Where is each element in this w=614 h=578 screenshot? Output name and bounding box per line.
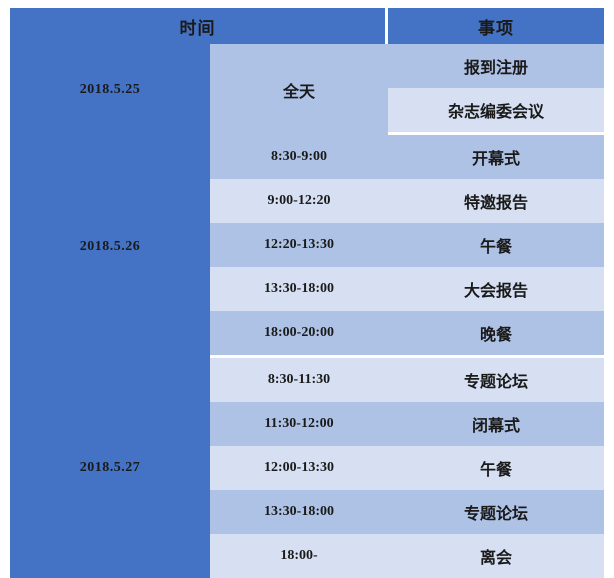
- time-cell: 全天: [210, 44, 388, 135]
- item-cell: 专题论坛: [388, 358, 604, 402]
- table-row: 2018.5.25全天报到注册: [10, 44, 604, 88]
- item-cell: 开幕式: [388, 135, 604, 179]
- date-cell: 2018.5.27: [10, 358, 210, 578]
- conference-schedule-table: 时间 事项 2018.5.25全天报到注册杂志编委会议2018.5.268:30…: [10, 8, 604, 578]
- item-cell: 杂志编委会议: [388, 88, 604, 135]
- date-cell: 2018.5.25: [10, 44, 210, 135]
- time-cell: 13:30-18:00: [210, 490, 388, 534]
- table-row: 2018.5.268:30-9:00开幕式: [10, 135, 604, 179]
- time-cell: 18:00-: [210, 534, 388, 578]
- schedule-container: 时间 事项 2018.5.25全天报到注册杂志编委会议2018.5.268:30…: [0, 0, 614, 572]
- item-cell: 闭幕式: [388, 402, 604, 446]
- item-cell: 离会: [388, 534, 604, 578]
- time-cell: 13:30-18:00: [210, 267, 388, 311]
- table-row: 2018.5.278:30-11:30专题论坛: [10, 358, 604, 402]
- column-header-time: 时间: [10, 8, 388, 44]
- item-cell: 午餐: [388, 223, 604, 267]
- time-cell: 8:30-9:00: [210, 135, 388, 179]
- time-cell: 12:00-13:30: [210, 446, 388, 490]
- item-cell: 专题论坛: [388, 490, 604, 534]
- date-cell: 2018.5.26: [10, 135, 210, 358]
- item-cell: 晚餐: [388, 311, 604, 358]
- time-cell: 12:20-13:30: [210, 223, 388, 267]
- item-cell: 午餐: [388, 446, 604, 490]
- item-cell: 大会报告: [388, 267, 604, 311]
- table-header: 时间 事项: [10, 8, 604, 44]
- time-cell: 11:30-12:00: [210, 402, 388, 446]
- table-body: 2018.5.25全天报到注册杂志编委会议2018.5.268:30-9:00开…: [10, 44, 604, 578]
- item-cell: 报到注册: [388, 44, 604, 88]
- column-header-item: 事项: [388, 8, 604, 44]
- header-row: 时间 事项: [10, 8, 604, 44]
- time-cell: 8:30-11:30: [210, 358, 388, 402]
- time-cell: 9:00-12:20: [210, 179, 388, 223]
- time-cell: 18:00-20:00: [210, 311, 388, 358]
- item-cell: 特邀报告: [388, 179, 604, 223]
